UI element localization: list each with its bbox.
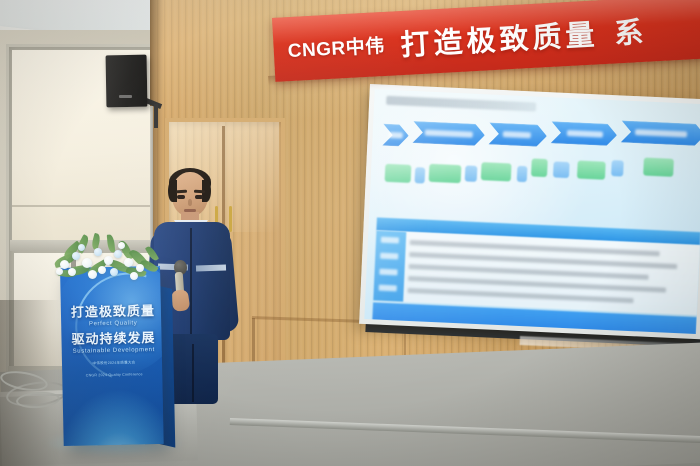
flower-bloom: [72, 252, 80, 260]
foliage-leaf: [145, 245, 159, 262]
podium-light-burst: [60, 387, 164, 446]
slide-blue-box: [415, 167, 426, 183]
flower-bloom: [130, 272, 138, 280]
flower-bloom: [110, 268, 118, 276]
slide-table-row-label: [379, 269, 397, 276]
slide-chevron-label: [503, 131, 531, 138]
slide-green-box: [531, 158, 548, 177]
slide-content: [364, 89, 700, 334]
cngr-logo: CNGR中伟: [287, 30, 385, 62]
slide-green-box: [429, 164, 462, 183]
podium-signage-text: 打造极致质量 Perfect Quality 驱动持续发展 Sustainabl…: [69, 304, 159, 379]
flower-bloom: [98, 266, 106, 274]
podium-line1-cn: 打造极致质量: [69, 304, 157, 321]
reflective-stripe: [196, 264, 226, 271]
speaker-badge: [119, 95, 132, 98]
jacket-zipper: [190, 228, 192, 336]
nose: [188, 199, 192, 206]
eye: [195, 195, 203, 199]
flower-arrangement: [52, 236, 158, 292]
podium-line1-en: Perfect Quality: [69, 320, 157, 328]
podium-subtitle-cn: 中伟股份2024年质量大会: [70, 360, 158, 367]
slide-green-box: [481, 162, 512, 181]
flower-bloom: [104, 256, 113, 265]
flower-bloom: [82, 258, 92, 268]
slide-chevron-label: [389, 132, 403, 139]
podium-subtitle-en: CNGR 2024 Quality Conference: [70, 372, 158, 379]
slide-blue-box: [465, 165, 478, 182]
conference-photo-scene: CNGR中伟 打造极致质量 系: [0, 0, 700, 466]
eyebrow: [194, 190, 205, 193]
flower-bloom: [114, 250, 122, 258]
flower-bloom: [56, 268, 63, 275]
slide-green-box: [385, 164, 412, 183]
wall-speaker: [106, 55, 148, 108]
podium-line2-en: Sustainable Development: [70, 347, 158, 355]
slide-table-row-label: [381, 237, 399, 244]
podium: 打造极致质量 Perfect Quality 驱动持续发展 Sustainabl…: [60, 266, 164, 446]
slide-green-box: [577, 161, 606, 180]
flower-bloom: [94, 248, 102, 256]
podium-line2-cn: 驱动持续发展: [69, 331, 157, 348]
leg-seam: [192, 344, 194, 402]
flower-bloom: [118, 242, 125, 249]
foliage-leaf: [107, 234, 116, 253]
banner-headline: 打造极致质量: [399, 11, 599, 64]
projection-screen[interactable]: [359, 84, 700, 339]
speaker-mount-pole: [154, 104, 158, 128]
flower-bloom: [78, 244, 85, 251]
slide-table-row-label: [380, 253, 398, 260]
slide-table-row-label: [379, 285, 397, 292]
slide-blue-box: [517, 166, 528, 182]
flower-bloom: [124, 258, 133, 267]
flower-bloom: [136, 264, 144, 272]
slide-green-box: [643, 158, 674, 177]
flower-bloom: [68, 268, 76, 276]
hand: [171, 289, 191, 312]
screen-frame: [359, 84, 700, 339]
eye: [177, 195, 185, 199]
banner-headline-cutoff: 系: [613, 9, 644, 53]
slide-blue-box: [553, 161, 570, 178]
blind-crease: [12, 205, 158, 207]
flower-bloom: [88, 270, 97, 279]
slide-blue-box: [611, 160, 624, 177]
